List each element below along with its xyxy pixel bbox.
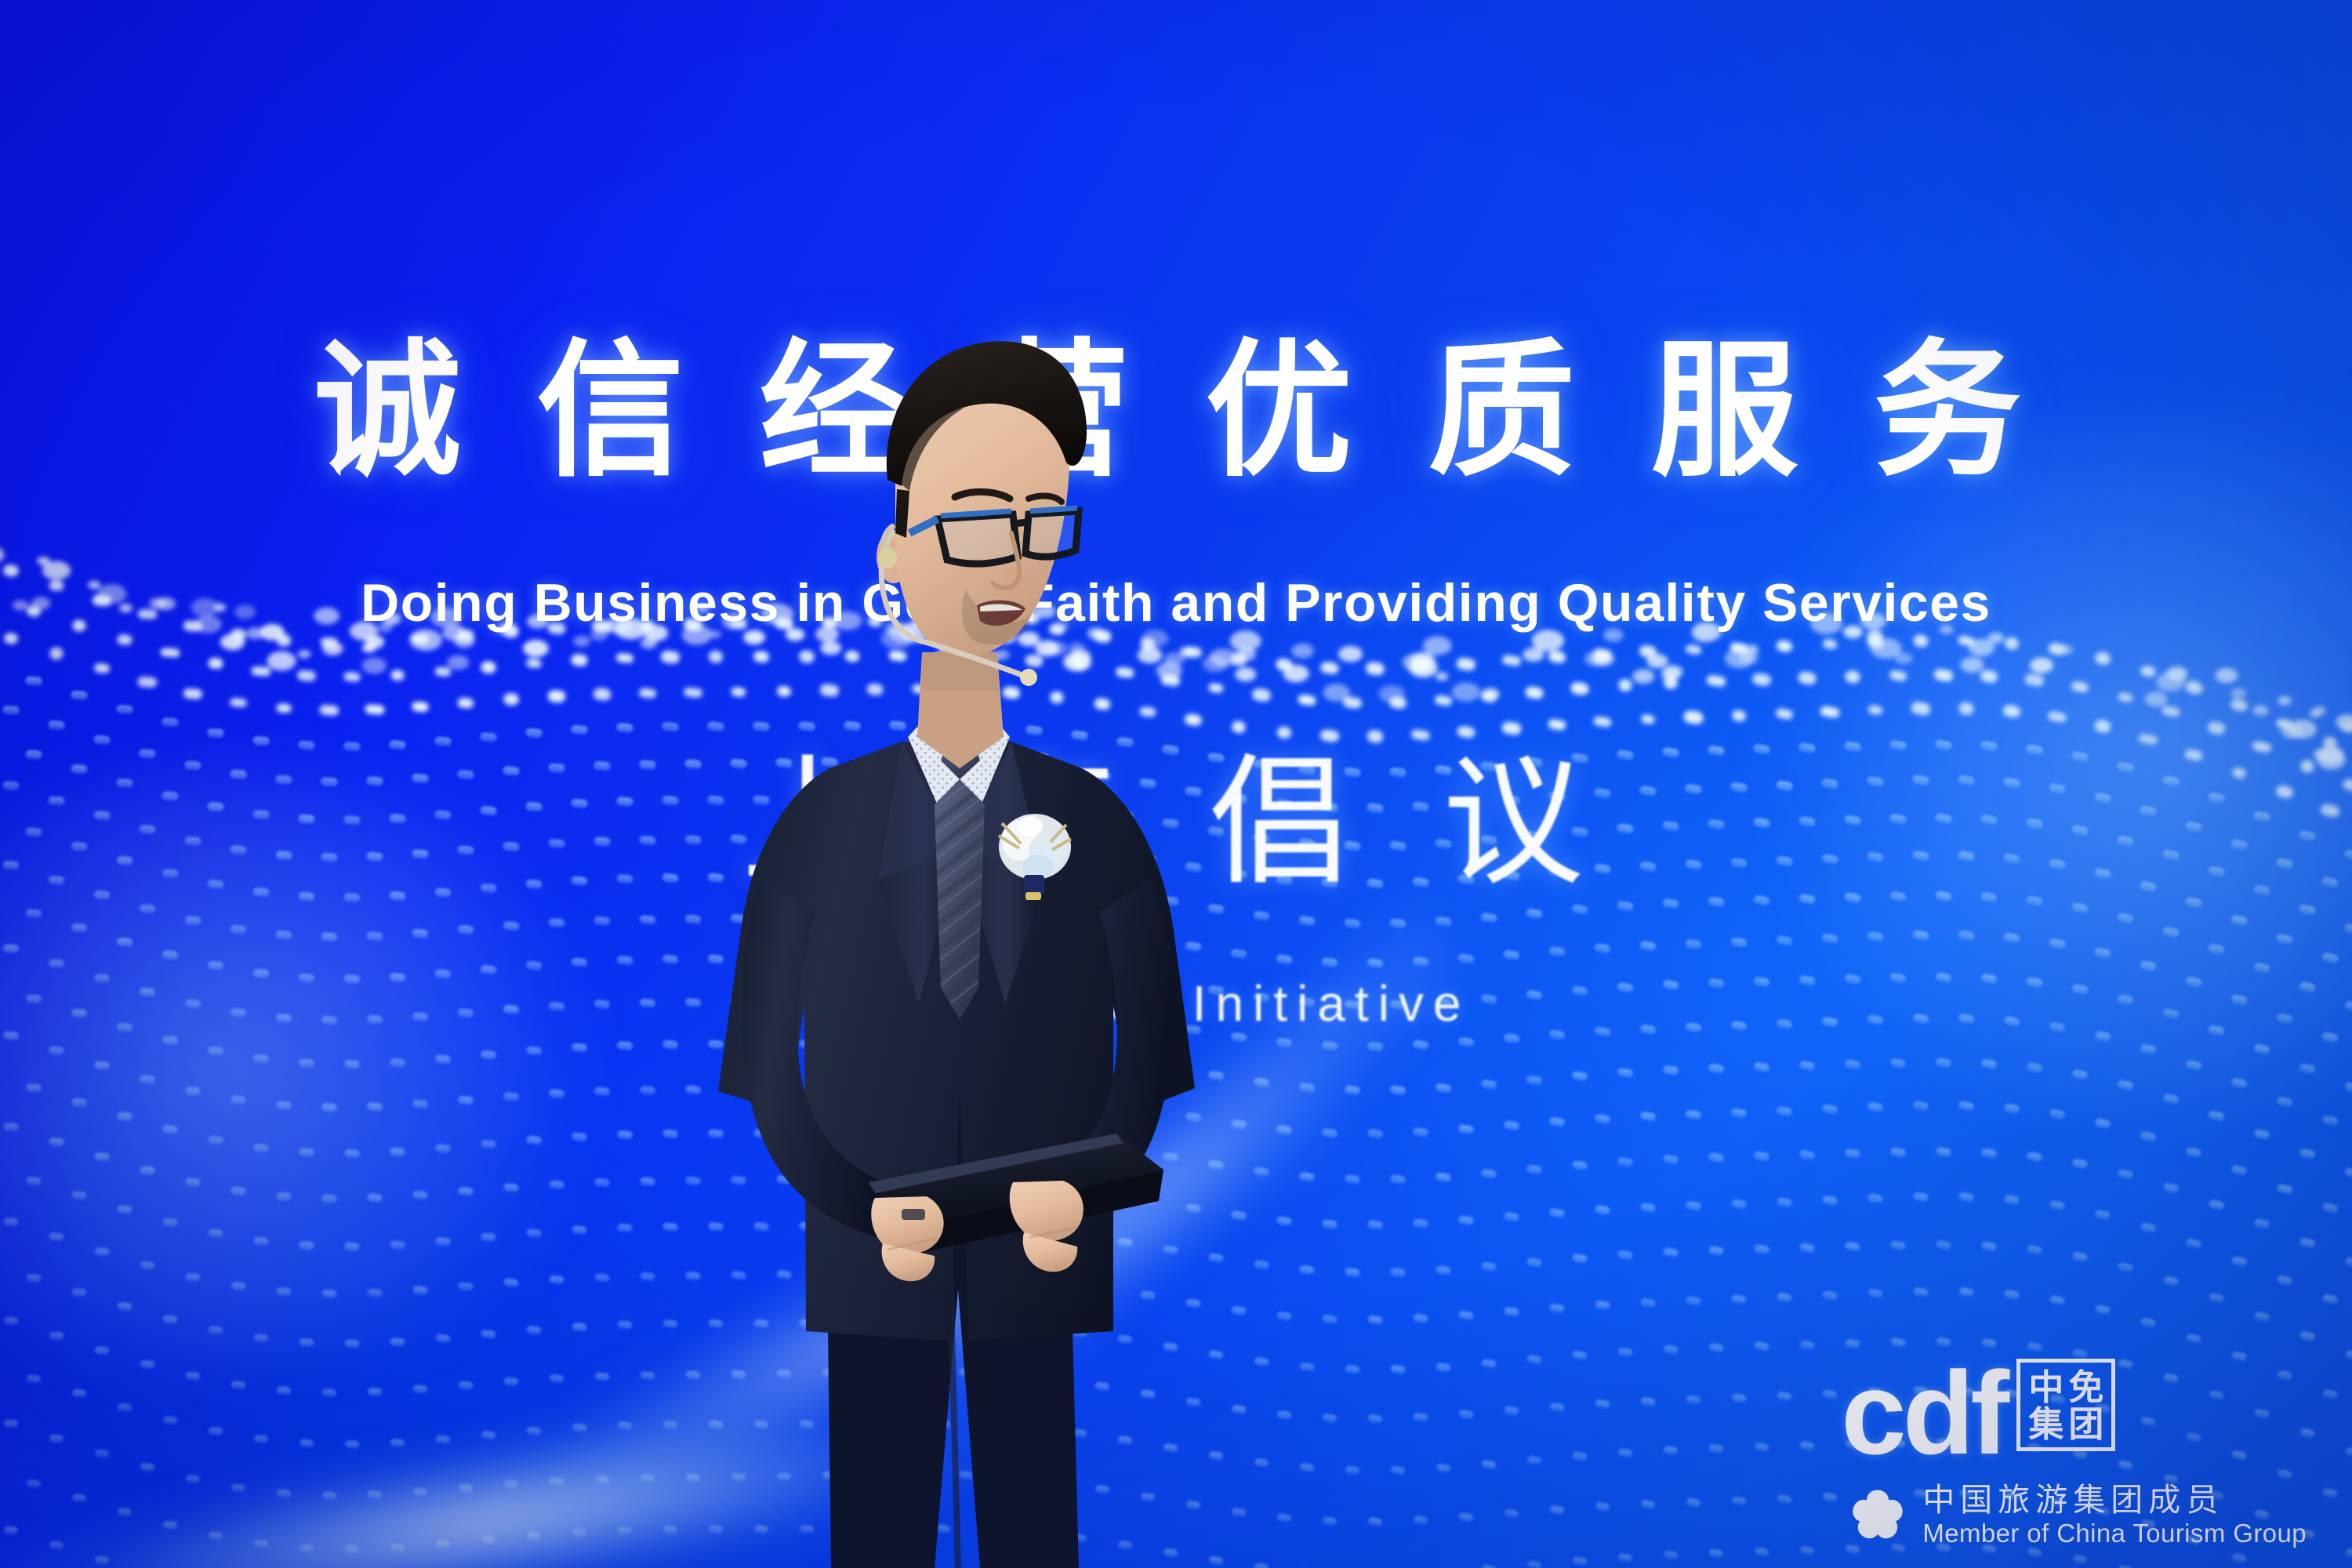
cdf-box-char-3: 集 [2028, 1406, 2063, 1442]
cdf-logo-lockup: cdf 中 免 集 团 [1841, 1359, 2307, 1546]
screen-glow-blob-right [1709, 408, 2352, 1113]
ctg-member-english: Member of China Tourism Group [1922, 1520, 2307, 1546]
cdf-box-char-1: 中 [2028, 1370, 2063, 1405]
china-tourism-group-endorsement: 中国旅游集团成员 Member of China Tourism Group [1849, 1484, 2307, 1546]
cdf-chinese-box: 中 免 集 团 [2016, 1359, 2115, 1451]
ctg-text-block: 中国旅游集团成员 Member of China Tourism Group [1922, 1484, 2307, 1546]
ctg-member-chinese: 中国旅游集团成员 [1922, 1484, 2307, 1516]
screen-glow-blob-left [0, 768, 659, 1364]
china-tourism-group-flower-icon [1849, 1486, 1907, 1544]
cdf-wordmark: cdf [1841, 1363, 2005, 1464]
stage-screenshot: 诚 信 经 营 优 质 服 务 Doing Business in Good F… [0, 0, 2352, 1568]
speaker-figure [643, 298, 1239, 1568]
cdf-box-char-4: 团 [2068, 1406, 2103, 1442]
cdf-box-char-2: 免 [2068, 1370, 2103, 1405]
cdf-primary-logo: cdf 中 免 集 团 [1841, 1359, 2115, 1464]
